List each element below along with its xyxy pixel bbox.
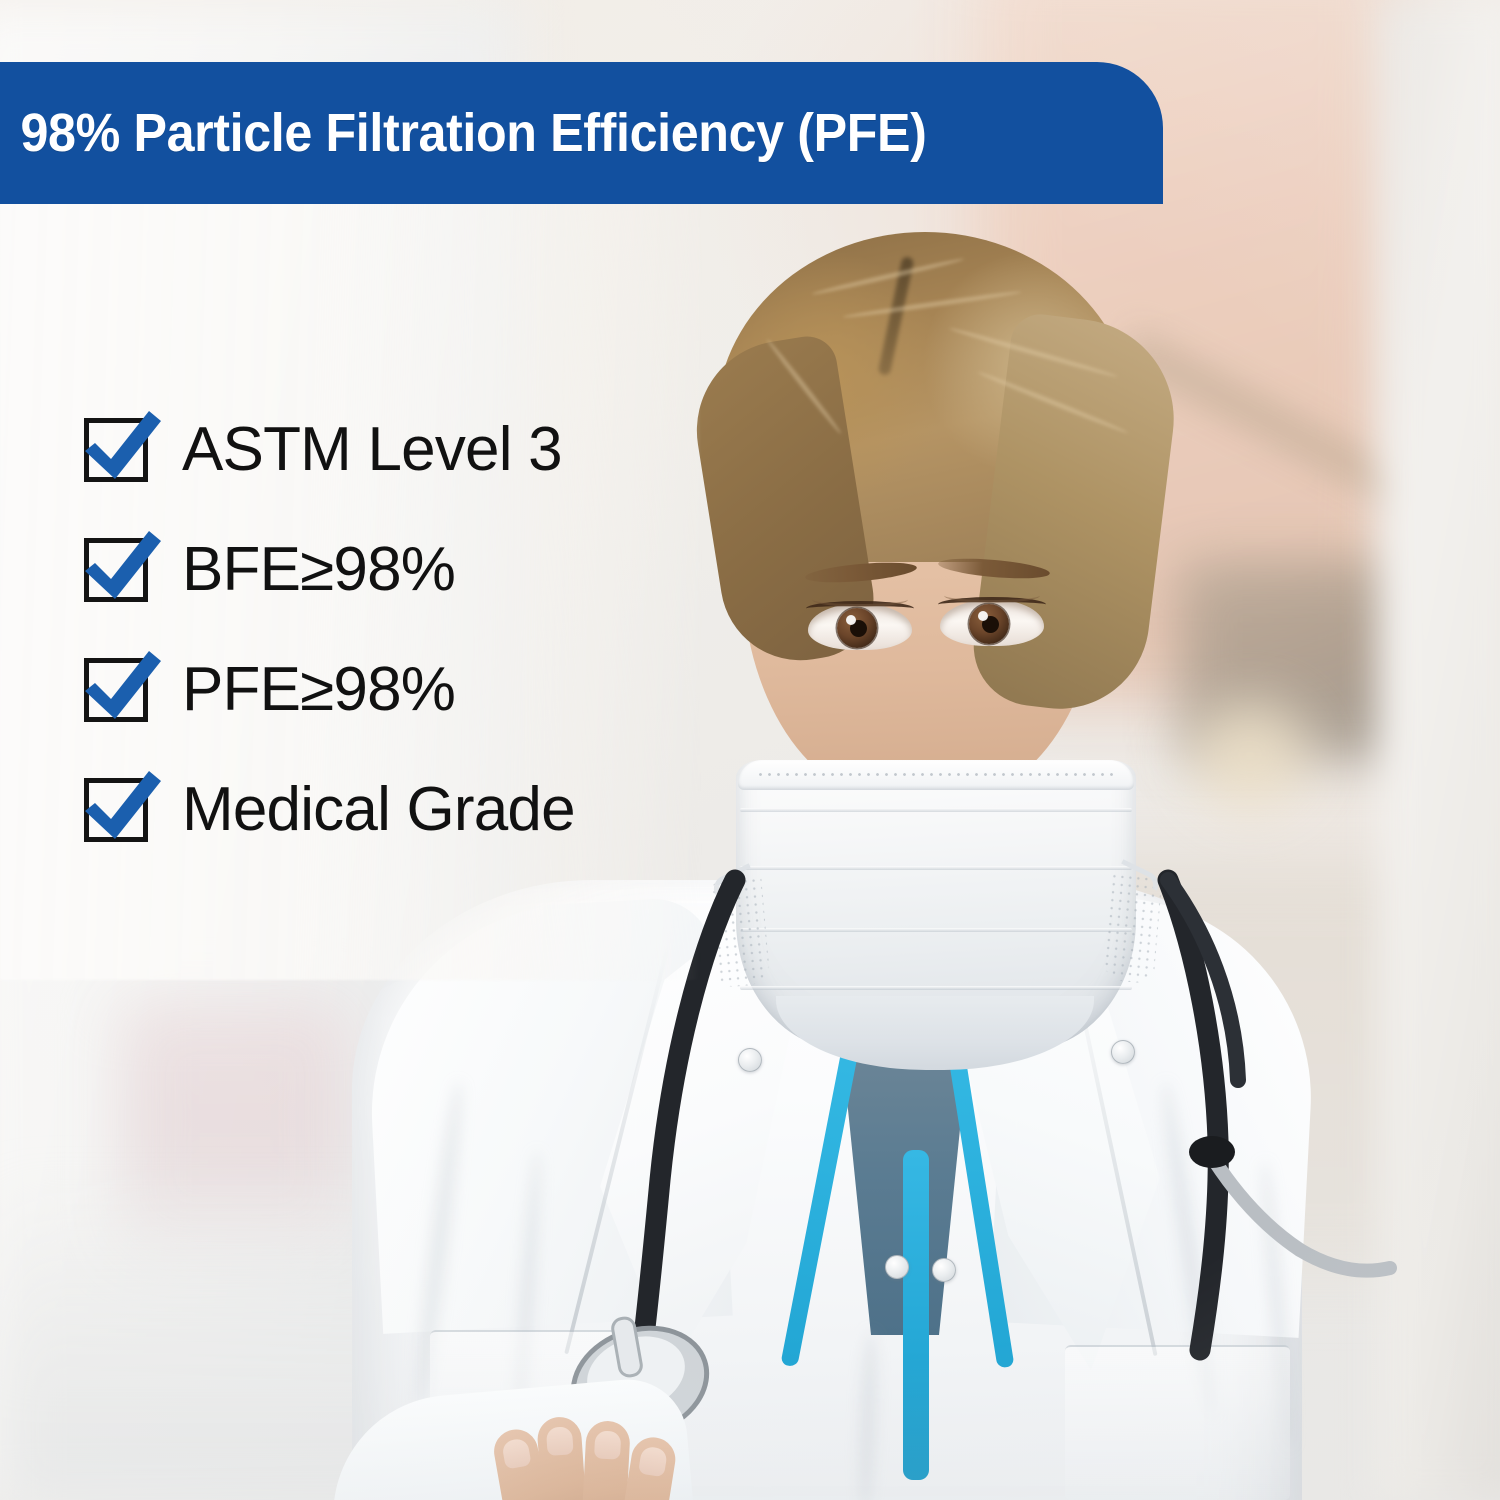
feature-item: BFE≥98% [84, 538, 575, 602]
checkbox-checked [84, 778, 148, 842]
checkmark-icon [75, 759, 167, 851]
feature-label: BFE≥98% [182, 539, 455, 601]
headline-banner: 98% Particle Filtration Efficiency (PFE) [0, 62, 1163, 204]
feature-item: ASTM Level 3 [84, 418, 575, 482]
feature-list: ASTM Level 3 BFE≥98% PFE≥98% [84, 418, 575, 842]
checkbox-checked [84, 418, 148, 482]
feature-label: ASTM Level 3 [182, 419, 562, 481]
checkmark-icon [75, 519, 167, 611]
product-feature-image: 98% Particle Filtration Efficiency (PFE)… [0, 0, 1500, 1500]
checkmark-icon [75, 639, 167, 731]
feature-label: Medical Grade [182, 779, 575, 841]
checkbox-checked [84, 658, 148, 722]
checkmark-icon [75, 399, 167, 491]
checkbox-checked [84, 538, 148, 602]
feature-label: PFE≥98% [182, 659, 455, 721]
feature-item: Medical Grade [84, 778, 575, 842]
feature-item: PFE≥98% [84, 658, 575, 722]
headline-text: 98% Particle Filtration Efficiency (PFE) [0, 102, 927, 164]
